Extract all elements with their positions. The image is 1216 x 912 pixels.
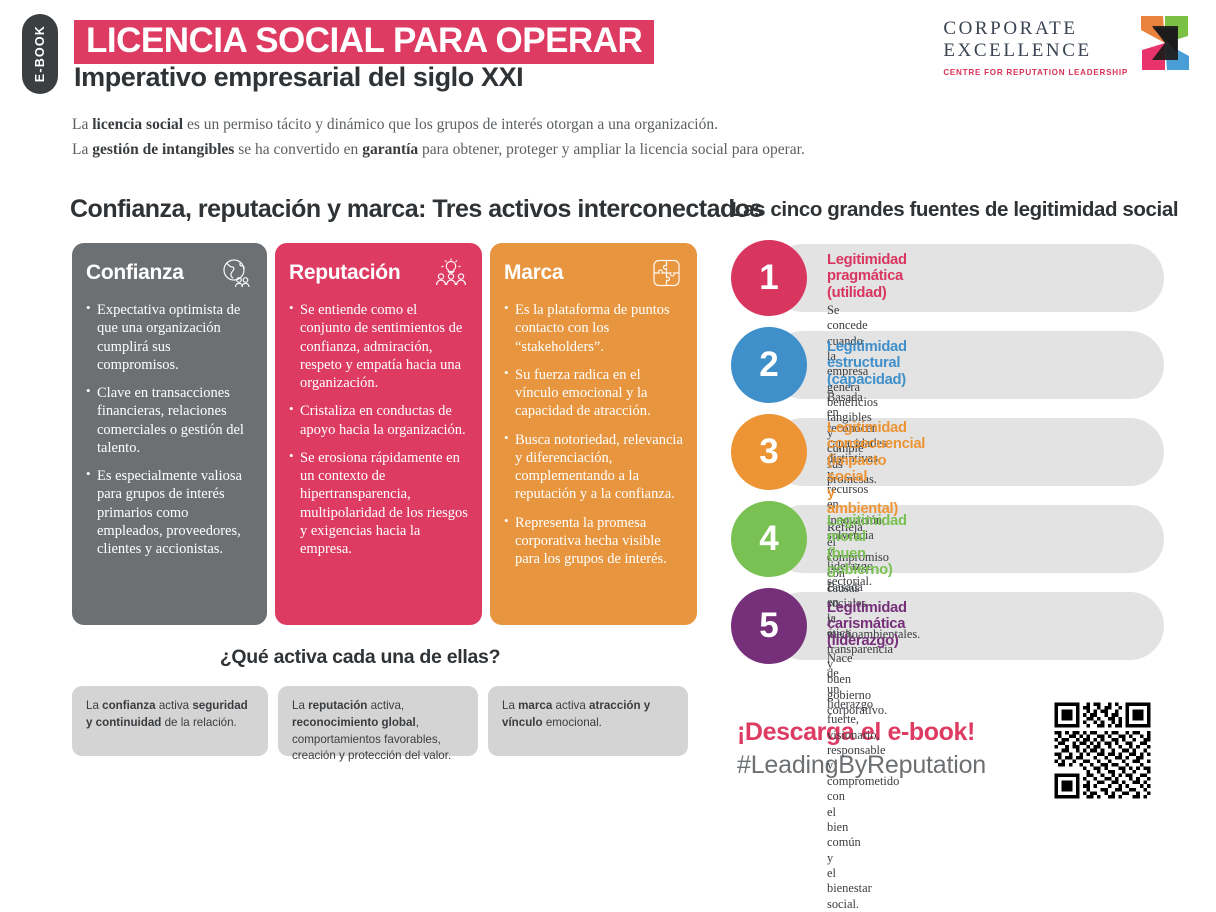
- activa-1-a: La: [292, 699, 308, 712]
- globe-people-icon: [219, 257, 253, 289]
- logo-line-1: CORPORATE: [943, 18, 1128, 40]
- corporate-excellence-logo: CORPORATE EXCELLENCE CENTRE FOR REPUTATI…: [943, 14, 1194, 77]
- page-title-bar: LICENCIA SOCIAL PARA OPERAR: [74, 20, 654, 64]
- list-item: Clave en transacciones financieras, rela…: [86, 384, 253, 457]
- card-reputacion-title: Reputación: [289, 261, 400, 285]
- activa-1-c: activa,: [367, 699, 404, 712]
- card-confianza: Confianza Expectativa optimista de que u…: [72, 243, 267, 625]
- ebook-badge: E-BOOK: [22, 14, 58, 94]
- logo-line-2: EXCELLENCE: [943, 40, 1128, 62]
- intro-l1-bold: licencia social: [92, 116, 183, 133]
- right-section-heading: Las cinco grandes fuentes de legitimidad…: [731, 198, 1178, 222]
- list-item: Se erosiona rápidamente en un contexto d…: [289, 449, 468, 559]
- card-confianza-title: Confianza: [86, 261, 184, 285]
- qr-code[interactable]: [1051, 699, 1154, 802]
- activa-2-d: emocional.: [543, 716, 602, 729]
- list-item: Su fuerza radica en el vínculo emocional…: [504, 366, 683, 421]
- logo-text: CORPORATE EXCELLENCE CENTRE FOR REPUTATI…: [943, 14, 1128, 77]
- legitimacy-number-badge: 2: [731, 327, 807, 403]
- intro-l2-a: La: [72, 141, 92, 158]
- card-reputacion-header: Reputación: [289, 257, 468, 289]
- intro-line-1: La licencia social es un permiso tácito …: [72, 112, 1162, 137]
- ebook-badge-label: E-BOOK: [33, 25, 47, 82]
- list-item: Busca notoriedad, relevancia y diferenci…: [504, 431, 683, 504]
- activa-box-reputacion: La reputación activa, reconocimiento glo…: [278, 686, 478, 756]
- activa-box-confianza: La confianza activa seguridad y continui…: [72, 686, 268, 756]
- puzzle-icon: [649, 257, 683, 289]
- activa-heading: ¿Qué activa cada una de ellas?: [0, 646, 720, 669]
- activa-1-b1: reputación: [308, 699, 367, 712]
- list-item: Cristaliza en conductas de apoyo hacia l…: [289, 402, 468, 439]
- intro-l2-bold-1: gestión de intangibles: [92, 141, 234, 158]
- legitimacy-number-badge: 5: [731, 588, 807, 664]
- list-item: Se entiende como el conjunto de sentimie…: [289, 301, 468, 392]
- card-marca: Marca Es la plataforma de puntos contact…: [490, 243, 697, 625]
- activa-0-d: de la relación.: [161, 716, 236, 729]
- pillar-cards: Confianza Expectativa optimista de que u…: [72, 243, 697, 625]
- activa-0-a: La: [86, 699, 102, 712]
- legitimacy-number-badge: 3: [731, 414, 807, 490]
- list-item: Expectativa optimista de que una organiz…: [86, 301, 253, 374]
- left-section-heading: Confianza, reputación y marca: Tres acti…: [70, 195, 763, 224]
- intro-line-2: La gestión de intangibles se ha converti…: [72, 137, 1162, 162]
- intro-l2-e: para obtener, proteger y ampliar la lice…: [418, 141, 805, 158]
- activa-box-marca: La marca activa atracción y vínculo emoc…: [488, 686, 688, 756]
- card-marca-title: Marca: [504, 261, 563, 285]
- intro-l2-bold-2: garantía: [362, 141, 418, 158]
- lightbulb-people-icon: [434, 257, 468, 289]
- intro-l1-c: es un permiso tácito y dinámico que los …: [183, 116, 718, 133]
- legitimacy-number-badge: 1: [731, 240, 807, 316]
- card-marca-header: Marca: [504, 257, 683, 289]
- activa-0-b1: confianza: [102, 699, 155, 712]
- activa-2-a: La: [502, 699, 518, 712]
- list-item: Es especialmente valiosa para grupos de …: [86, 467, 253, 558]
- intro-l1-a: La: [72, 116, 92, 133]
- card-confianza-bullets: Expectativa optimista de que una organiz…: [86, 301, 253, 558]
- activa-boxes: La confianza activa seguridad y continui…: [72, 686, 688, 756]
- activa-0-c: activa: [156, 699, 193, 712]
- intro-l2-c: se ha convertido en: [234, 141, 362, 158]
- intro-paragraph: La licencia social es un permiso tácito …: [72, 112, 1162, 162]
- activa-2-b1: marca: [518, 699, 552, 712]
- page-title: LICENCIA SOCIAL PARA OPERAR: [86, 21, 642, 60]
- activa-2-c: activa: [552, 699, 589, 712]
- page-subtitle: Imperativo empresarial del siglo XXI: [74, 62, 523, 93]
- card-confianza-header: Confianza: [86, 257, 253, 289]
- list-item: Es la plataforma de puntos contacto con …: [504, 301, 683, 356]
- card-marca-bullets: Es la plataforma de puntos contacto con …: [504, 301, 683, 568]
- legitimacy-number-badge: 4: [731, 501, 807, 577]
- card-reputacion-bullets: Se entiende como el conjunto de sentimie…: [289, 301, 468, 558]
- list-item: Representa la promesa corporativa hecha …: [504, 514, 683, 569]
- logo-pinwheel-icon: [1136, 14, 1194, 72]
- logo-tagline: CENTRE FOR REPUTATION LEADERSHIP: [943, 68, 1128, 77]
- activa-1-b2: reconocimiento global: [292, 716, 416, 729]
- card-reputacion: Reputación Se entiende como el conjunto …: [275, 243, 482, 625]
